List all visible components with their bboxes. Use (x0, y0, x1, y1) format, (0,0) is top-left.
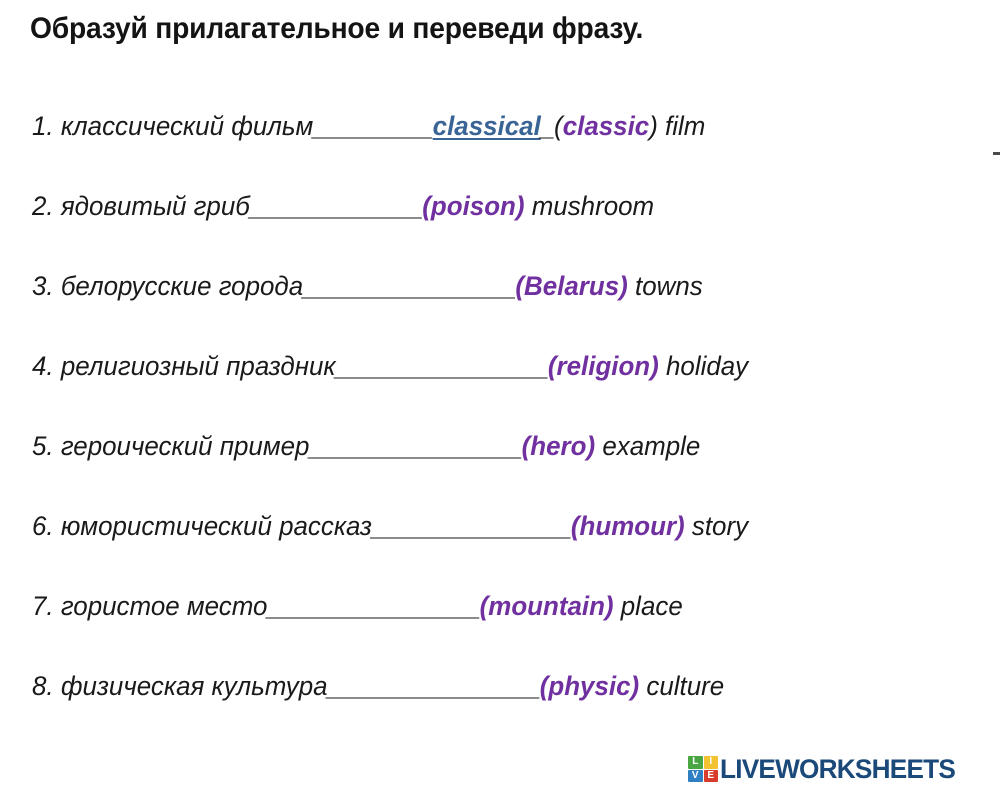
exercise-hint: mountain (488, 591, 605, 621)
exercise-prompt: 7. гористое место (32, 591, 267, 621)
exercise-hint: Belarus (524, 271, 619, 301)
exercise-tail: culture (639, 671, 724, 701)
exercise-tail: holiday (659, 351, 748, 381)
liveworksheets-logo: L I V E LIVEWORKSHEETS (688, 752, 962, 786)
exercise-blank[interactable]: ________________ (309, 431, 521, 461)
exercise-paren-open: ( (422, 191, 431, 221)
exercise-prompt: 3. белорусские города (32, 271, 303, 301)
exercise-blank[interactable]: _______________ (372, 511, 571, 541)
liveworksheets-wordmark: LIVEWORKSHEETS (720, 756, 955, 783)
exercise-blank[interactable]: ________________ (303, 271, 515, 301)
exercise-tail: example (595, 431, 700, 461)
exercise-hint: hero (530, 431, 586, 461)
exercise-paren-open: ( (522, 431, 531, 461)
exercise-blank[interactable]: _____________ (250, 191, 422, 221)
exercise-paren-close: ) (605, 591, 614, 621)
exercise-prompt: 8. физическая культура (32, 671, 328, 701)
logo-cell-v: V (688, 770, 703, 783)
exercise-hint: physic (548, 671, 630, 701)
worksheet-page: Образуй прилагательное и переведи фразу.… (0, 0, 1000, 787)
exercise-tail: place (614, 591, 683, 621)
exercise-tail: towns (628, 271, 703, 301)
exercise-item-8: 8. физическая культура________________(p… (32, 646, 961, 726)
logo-cell-i: I (704, 756, 719, 769)
exercise-paren-close: ) (676, 511, 685, 541)
exercise-paren-open: ( (540, 671, 549, 701)
exercise-paren-open: ( (480, 591, 489, 621)
exercise-prompt: 6. юмористический рассказ (32, 511, 372, 541)
exercise-item-1: 1. классический фильм_________classical_… (32, 86, 961, 166)
logo-cell-e: E (704, 770, 719, 783)
exercise-tail: story (685, 511, 748, 541)
exercise-item-2: 2. ядовитый гриб_____________(poison) mu… (32, 166, 961, 246)
exercise-item-3: 3. белорусские города________________(Be… (32, 246, 961, 326)
exercise-hint: poison (431, 191, 516, 221)
exercise-hint: humour (580, 511, 676, 541)
exercise-item-4: 4. религиозный праздник________________(… (32, 326, 961, 406)
exercise-blank[interactable]: _________ (313, 111, 432, 141)
exercise-paren-open: ( (515, 271, 524, 301)
exercise-paren-close: ) (516, 191, 525, 221)
exercise-blank[interactable]: ________________ (267, 591, 479, 621)
exercise-blank[interactable]: ________________ (328, 671, 540, 701)
exercise-tail: film (658, 111, 706, 141)
exercise-prompt: 1. классический фильм (32, 111, 313, 141)
exercise-paren-close: ) (586, 431, 595, 461)
exercise-answer[interactable]: classical (433, 111, 541, 141)
exercise-prompt: 4. религиозный праздник (32, 351, 336, 381)
exercise-tail: mushroom (525, 191, 655, 221)
logo-cell-l: L (688, 756, 703, 769)
exercise-item-5: 5. героический пример________________(he… (32, 406, 961, 486)
exercise-paren-close: ) (619, 271, 628, 301)
exercise-item-7: 7. гористое место________________(mounta… (32, 566, 961, 646)
exercise-prompt: 2. ядовитый гриб (32, 191, 250, 221)
exercise-hint: religion (557, 351, 651, 381)
exercise-prompt: 5. героический пример (32, 431, 309, 461)
exercise-item-6: 6. юмористический рассказ_______________… (32, 486, 961, 566)
exercise-paren-close: ) (650, 351, 659, 381)
exercise-answer-trailing-blank: _ (541, 111, 554, 141)
exercise-list: 1. классический фильм_________classical_… (32, 86, 1000, 726)
exercise-paren-close: ) (649, 111, 658, 141)
exercise-blank[interactable]: ________________ (336, 351, 548, 381)
exercise-hint: classic (563, 111, 649, 141)
page-title: Образуй прилагательное и переведи фразу. (30, 12, 643, 46)
liveworksheets-logo-icon: L I V E (688, 756, 718, 782)
exercise-paren-open: ( (554, 111, 563, 141)
